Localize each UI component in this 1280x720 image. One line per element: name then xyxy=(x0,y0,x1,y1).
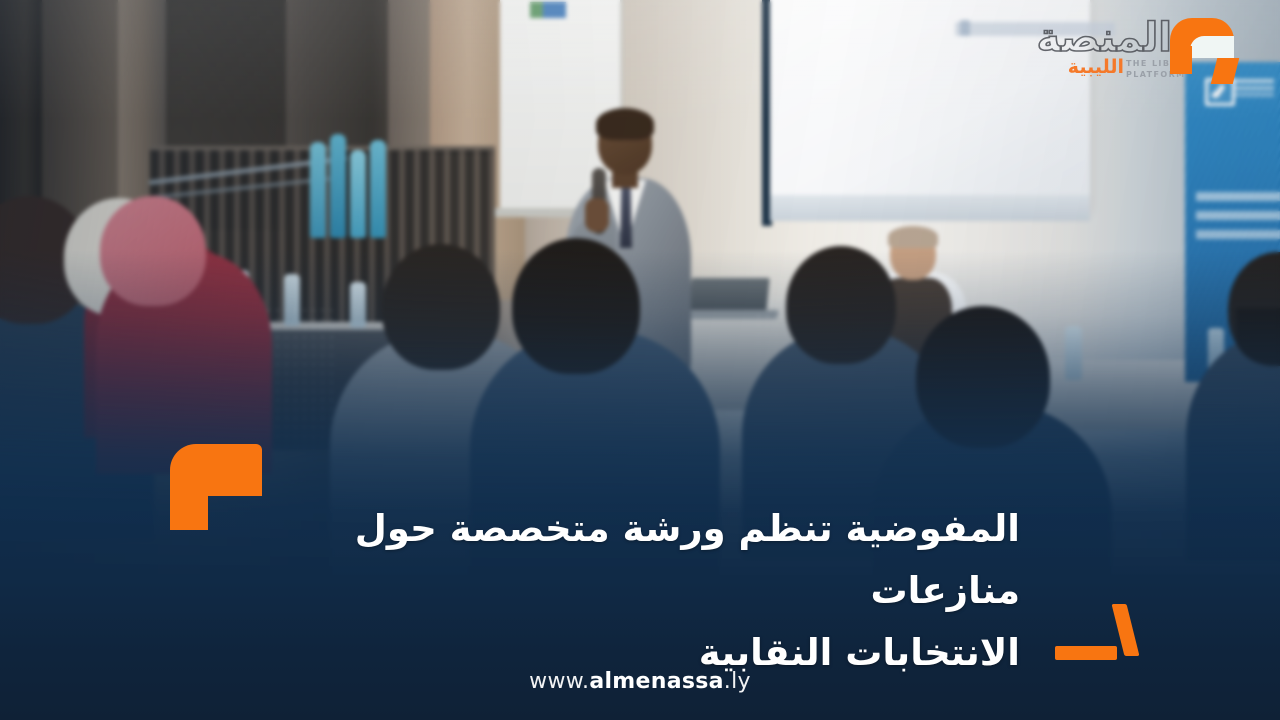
orange-check-mark xyxy=(1055,604,1139,660)
news-card: المنصة الليبية THE LIBYAN PLATFORM المفو… xyxy=(0,0,1280,720)
brand-logo[interactable]: المنصة الليبية THE LIBYAN PLATFORM xyxy=(1044,14,1234,88)
url-prefix: www. xyxy=(529,669,589,694)
logo-hook-icon xyxy=(1170,18,1234,74)
logo-arabic-sub: الليبية xyxy=(1068,56,1124,78)
headline: المفوضية تنظم ورشة متخصصة حول منازعات ال… xyxy=(260,498,1020,684)
website-url[interactable]: www.almenassa.ly xyxy=(0,669,1280,694)
url-brand: almenassa xyxy=(589,669,723,694)
logo-arabic-outline: المنصة xyxy=(1036,18,1172,58)
headline-line-1: المفوضية تنظم ورشة متخصصة حول منازعات xyxy=(355,507,1020,612)
orange-hook-mark xyxy=(170,444,262,530)
url-tld: .ly xyxy=(724,669,751,694)
